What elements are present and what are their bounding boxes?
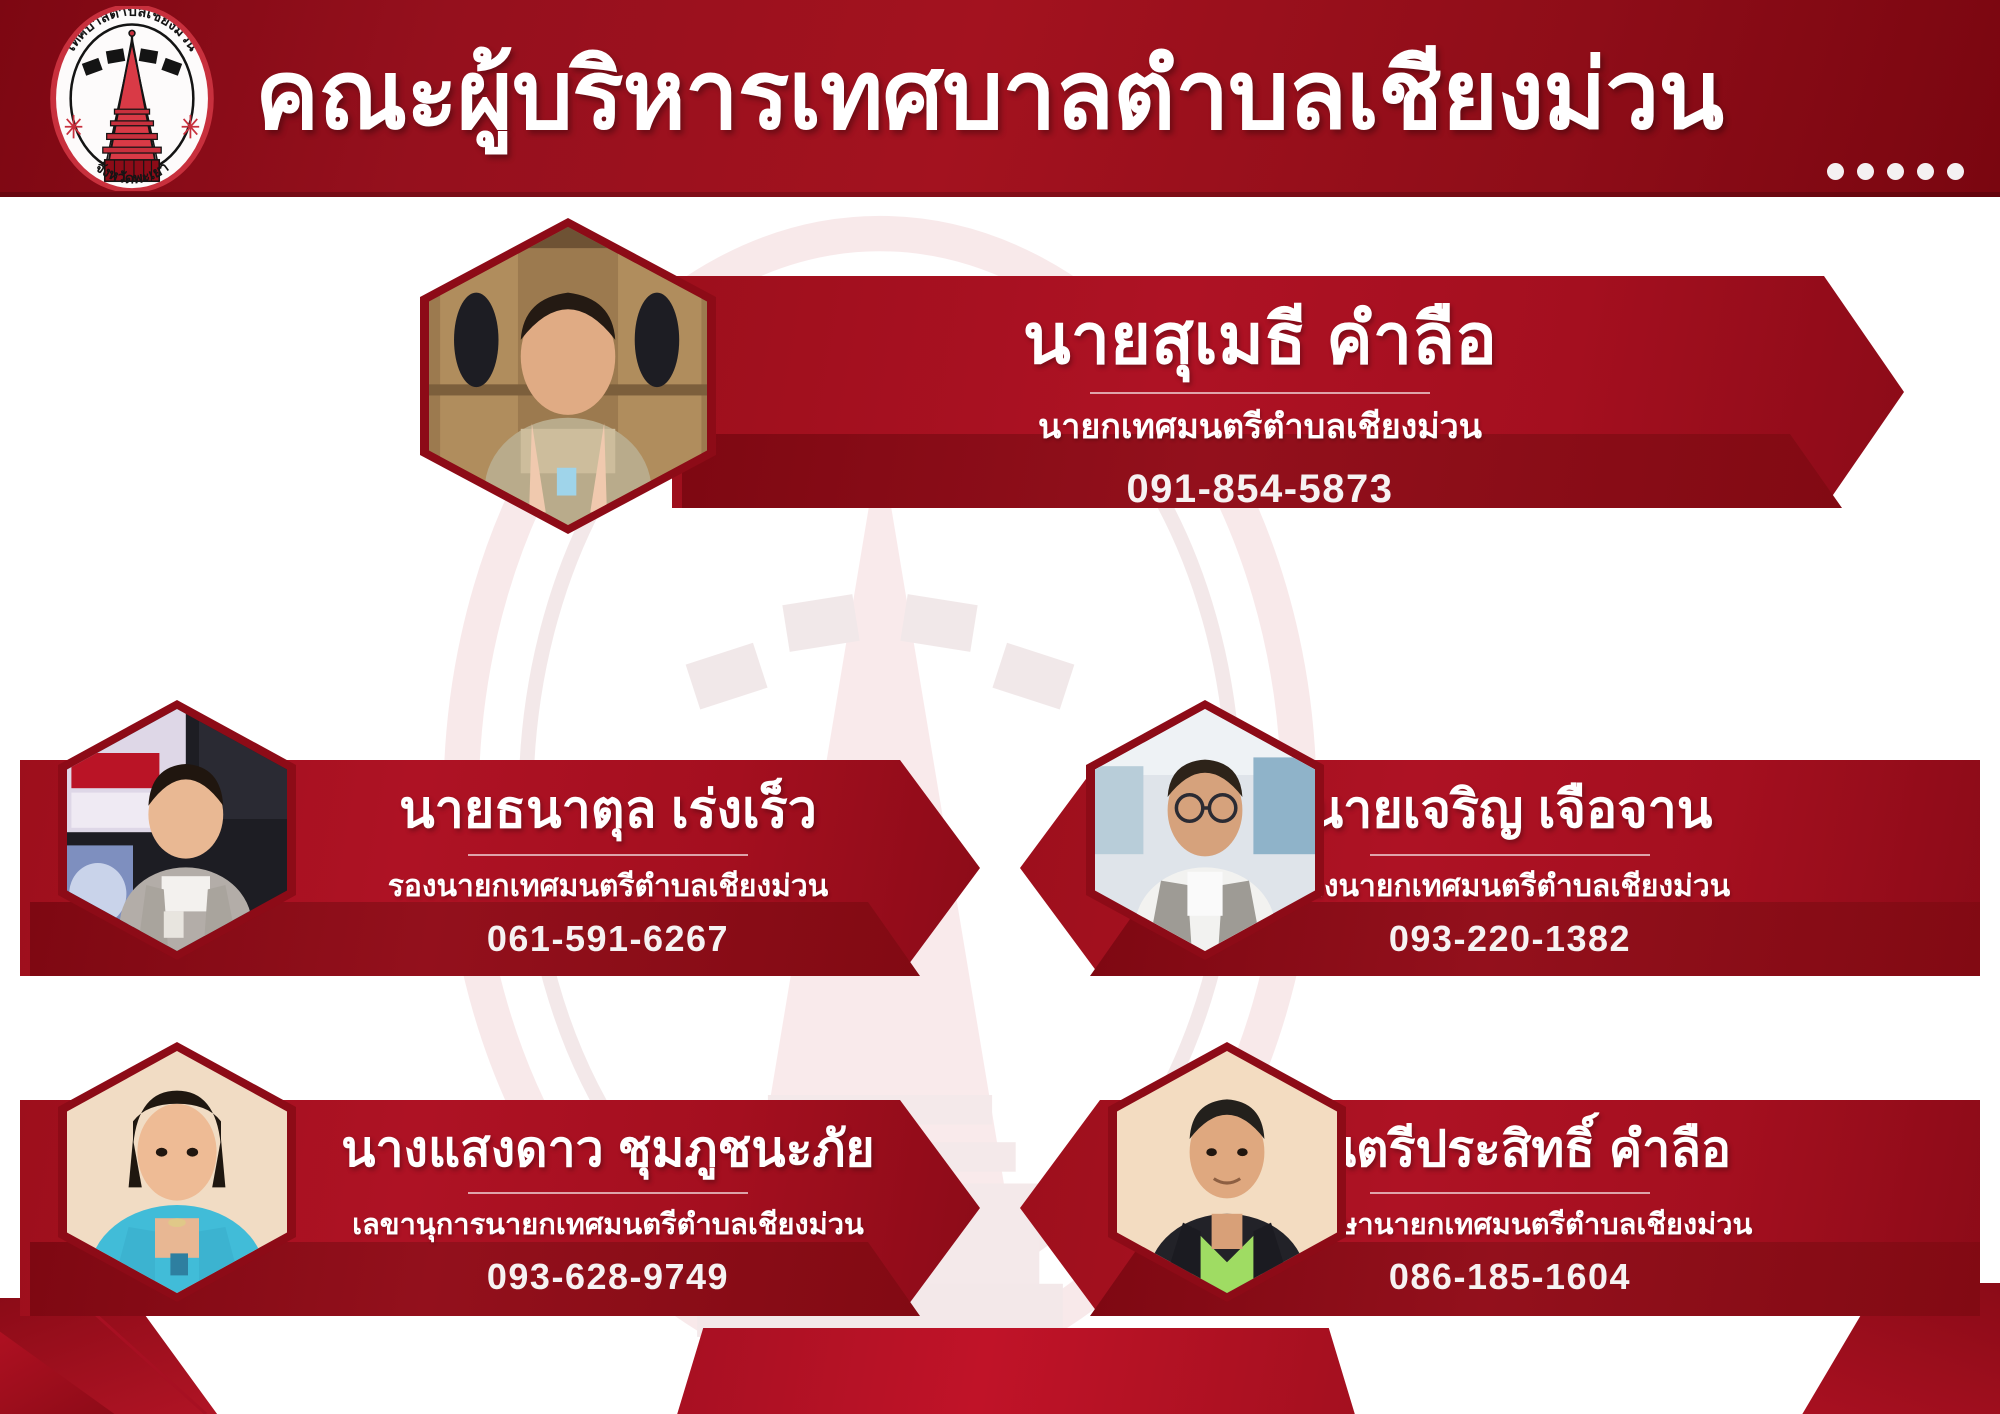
page-header: เทศบาลตำบลเชียงม่วน จังหวัดพะเยา คณะผู้บ… xyxy=(0,0,2000,197)
page-title: คณะผู้บริหารเทศบาลตำบลเชียงม่วน xyxy=(255,48,1955,144)
decoration-diagonal-line xyxy=(80,1304,210,1414)
header-dot xyxy=(1827,163,1844,180)
header-dot xyxy=(1917,163,1934,180)
decoration-bottom-center-bar xyxy=(676,1328,1356,1414)
header-dots-decoration xyxy=(1827,163,1964,180)
header-dot xyxy=(1887,163,1904,180)
card-phone-strip xyxy=(682,434,1842,508)
executive-board-poster: เทศบาลตำบลเชียงม่วน จังหวัดพะเยา คณะผู้บ… xyxy=(0,0,2000,1414)
municipal-seal-icon: เทศบาลตำบลเชียงม่วน จังหวัดพะเยา xyxy=(32,6,232,191)
header-dot xyxy=(1857,163,1874,180)
header-dot xyxy=(1947,163,1964,180)
person-card-mayor[interactable] xyxy=(672,276,1904,508)
